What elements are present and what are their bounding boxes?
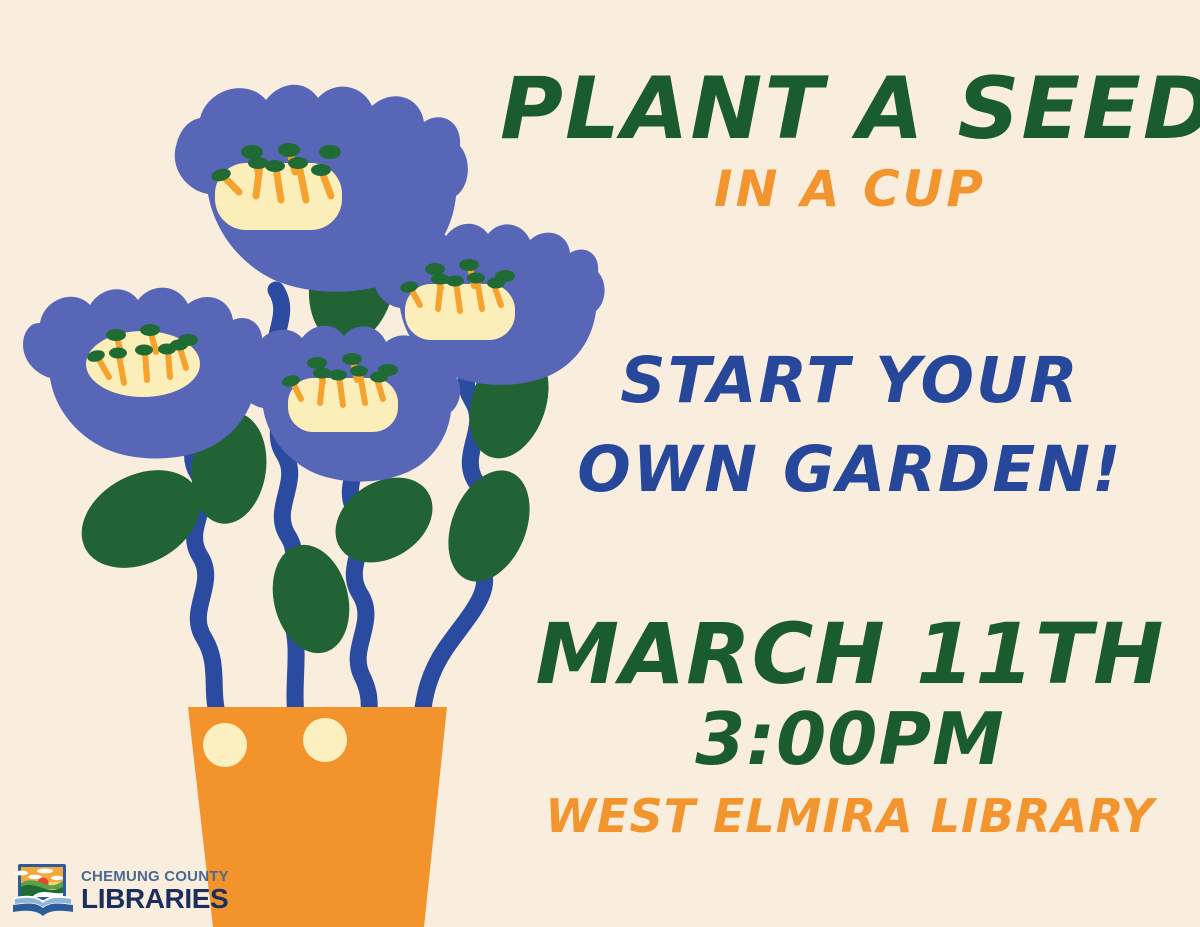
- event-details-block: MARCH 11TH 3:00PM WEST ELMIRA LIBRARY: [500, 612, 1200, 841]
- event-time: 3:00PM: [500, 700, 1200, 779]
- event-date: MARCH 11TH: [500, 612, 1200, 698]
- leaf-4: [262, 537, 360, 662]
- text-column: PLANT A SEED IN A CUP START YOUR OWN GAR…: [500, 0, 1200, 927]
- logo-line-2: LIBRARIES: [81, 885, 229, 913]
- tagline-line-2: OWN GARDEN!: [500, 425, 1200, 514]
- tagline-line-1: START YOUR: [500, 336, 1200, 425]
- tagline-block: START YOUR OWN GARDEN!: [500, 336, 1200, 515]
- headline-sub: IN A CUP: [500, 162, 1200, 217]
- headline-block: PLANT A SEED IN A CUP: [500, 66, 1200, 217]
- chemung-county-libraries-logo: CHEMUNG COUNTY LIBRARIES: [12, 862, 229, 920]
- open-book-landscape-logo-mark: [12, 862, 74, 920]
- logo-text: CHEMUNG COUNTY LIBRARIES: [81, 869, 229, 913]
- logo-line-1: CHEMUNG COUNTY: [81, 869, 229, 884]
- headline-main: PLANT A SEED: [500, 66, 1200, 152]
- poster-canvas: PLANT A SEED IN A CUP START YOUR OWN GAR…: [0, 0, 1200, 927]
- event-location: WEST ELMIRA LIBRARY: [500, 791, 1200, 842]
